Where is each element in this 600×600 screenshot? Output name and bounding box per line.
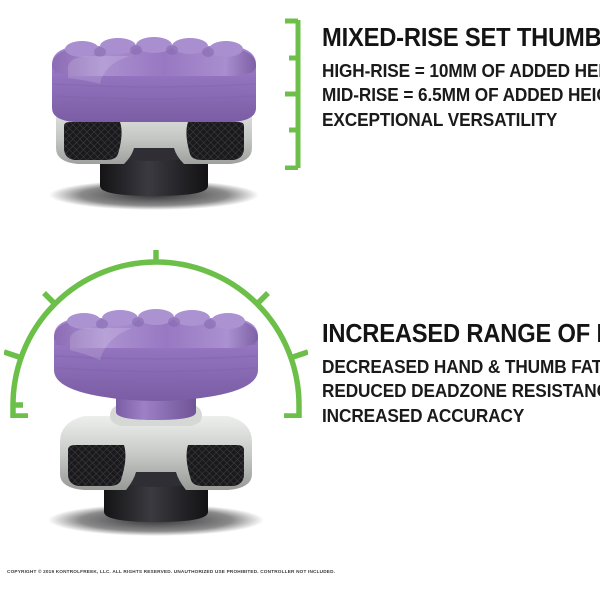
product-image-mid-rise: [34, 22, 274, 222]
section-range-of-motion: INCREASED RANGE OF MOTION DECREASED HAND…: [0, 250, 600, 540]
bracket-marker-icon: [284, 18, 316, 170]
headline-range-of-motion: INCREASED RANGE OF MOTION: [322, 322, 581, 348]
copy-block-mixed-rise: MIXED-RISE SET THUMBSTICKS HIGH-RISE = 1…: [322, 26, 600, 132]
bullet-item: HIGH-RISE = 10MM OF ADDED HEIGHT: [322, 59, 581, 84]
headline-mixed-rise: MIXED-RISE SET THUMBSTICKS: [322, 26, 581, 52]
section-mixed-rise: MIXED-RISE SET THUMBSTICKS HIGH-RISE = 1…: [0, 0, 600, 250]
bullet-item: REDUCED DEADZONE RESISTANCE: [322, 379, 581, 404]
bullet-item: DECREASED HAND & THUMB FATIGUE: [322, 355, 581, 380]
product-image-high-rise: [36, 300, 276, 540]
bullet-item: EXCEPTIONAL VERSATILITY: [322, 108, 581, 133]
copyright-notice: COPYRIGHT © 2019 KONTROLFREEK, LLC. ALL …: [7, 569, 335, 574]
bullet-item: MID-RISE = 6.5MM OF ADDED HEIGHT: [322, 83, 581, 108]
copy-block-range-of-motion: INCREASED RANGE OF MOTION DECREASED HAND…: [322, 322, 600, 428]
bullet-list-mixed-rise: HIGH-RISE = 10MM OF ADDED HEIGHT MID-RIS…: [322, 59, 600, 133]
infographic-root: MIXED-RISE SET THUMBSTICKS HIGH-RISE = 1…: [0, 0, 600, 600]
bullet-item: INCREASED ACCURACY: [322, 404, 581, 429]
bullet-list-range-of-motion: DECREASED HAND & THUMB FATIGUE REDUCED D…: [322, 355, 600, 429]
